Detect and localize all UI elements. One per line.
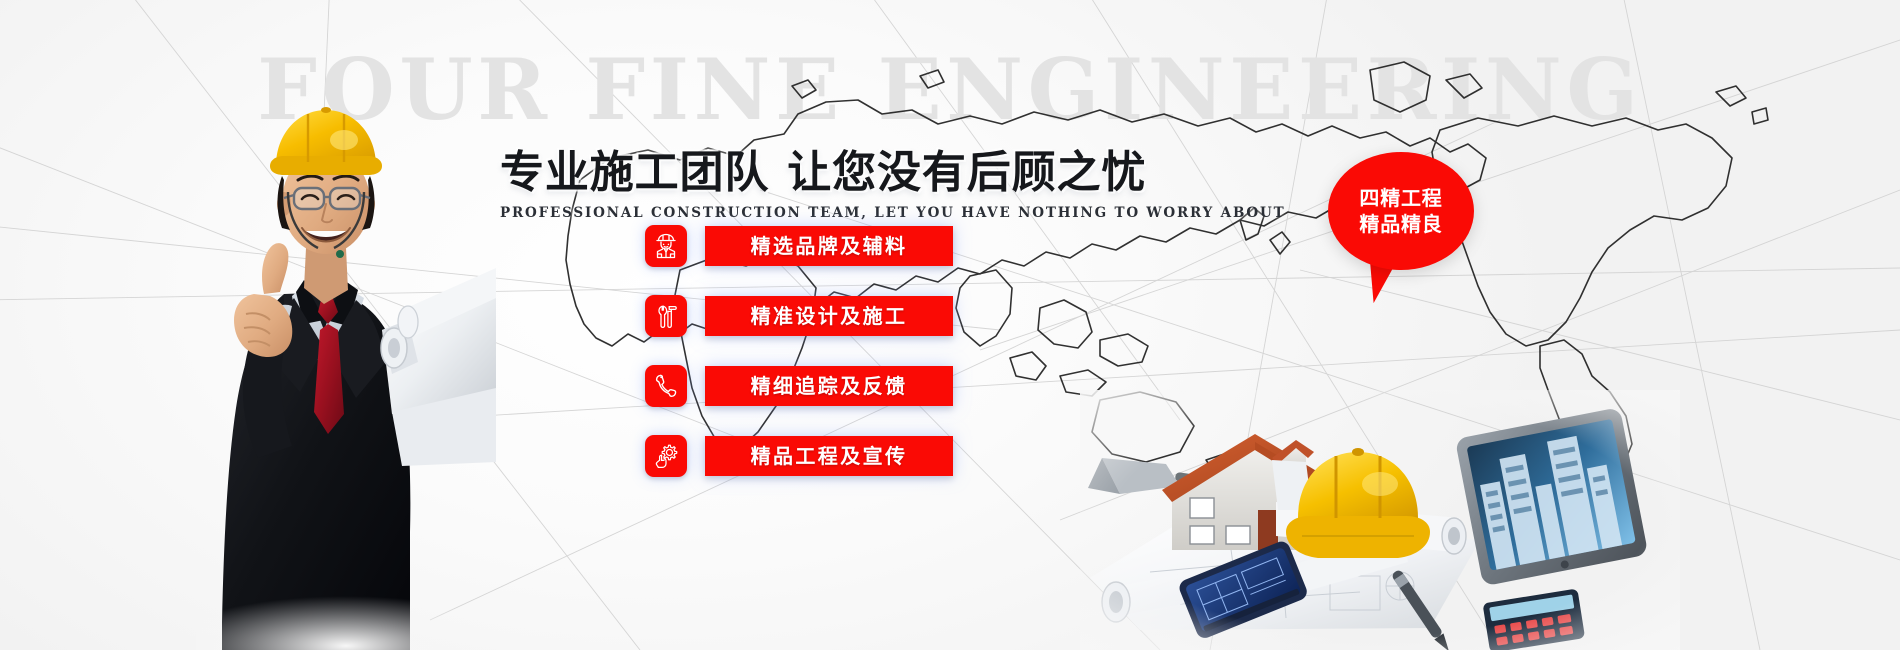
construction-desk-photo bbox=[1080, 390, 1680, 650]
gear-hand-icon bbox=[645, 435, 687, 477]
feature-item[interactable]: 精细追踪及反馈 bbox=[645, 358, 975, 414]
feature-label: 精细追踪及反馈 bbox=[751, 376, 908, 396]
feature-list: 精选品牌及辅料 精准设计及施工 bbox=[645, 218, 975, 498]
feature-label-box[interactable]: 精细追踪及反馈 bbox=[705, 366, 953, 406]
headline-part-2: 让您没有后顾之忧 bbox=[787, 147, 1146, 198]
feature-label: 精准设计及施工 bbox=[751, 306, 908, 326]
construction-worker-icon bbox=[645, 225, 687, 267]
bubble-line-2: 精品精良 bbox=[1359, 211, 1442, 237]
feature-item[interactable]: 精品工程及宣传 bbox=[645, 428, 975, 484]
feature-label-box[interactable]: 精选品牌及辅料 bbox=[705, 226, 953, 266]
feature-label-box[interactable]: 精品工程及宣传 bbox=[705, 436, 953, 476]
speech-bubble: 四精工程 精品精良 bbox=[1328, 152, 1474, 270]
telephone-handset-icon bbox=[645, 365, 687, 407]
feature-label: 精选品牌及辅料 bbox=[751, 236, 908, 256]
tools-wrench-hammer-icon bbox=[645, 295, 687, 337]
promo-banner: FOUR FINE ENGINEERING bbox=[0, 0, 1900, 650]
headline-block: 专业施工团队让您没有后顾之忧 PROFESSIONAL CONSTRUCTION… bbox=[500, 150, 1120, 221]
page-title: 专业施工团队让您没有后顾之忧 bbox=[500, 150, 1120, 196]
feature-label-box[interactable]: 精准设计及施工 bbox=[705, 296, 953, 336]
construction-manager-photo bbox=[196, 62, 496, 650]
feature-label: 精品工程及宣传 bbox=[751, 446, 908, 466]
bubble-line-1: 四精工程 bbox=[1359, 185, 1442, 211]
feature-item[interactable]: 精准设计及施工 bbox=[645, 288, 975, 344]
feature-item[interactable]: 精选品牌及辅料 bbox=[645, 218, 975, 274]
headline-part-1: 专业施工团队 bbox=[500, 147, 769, 198]
